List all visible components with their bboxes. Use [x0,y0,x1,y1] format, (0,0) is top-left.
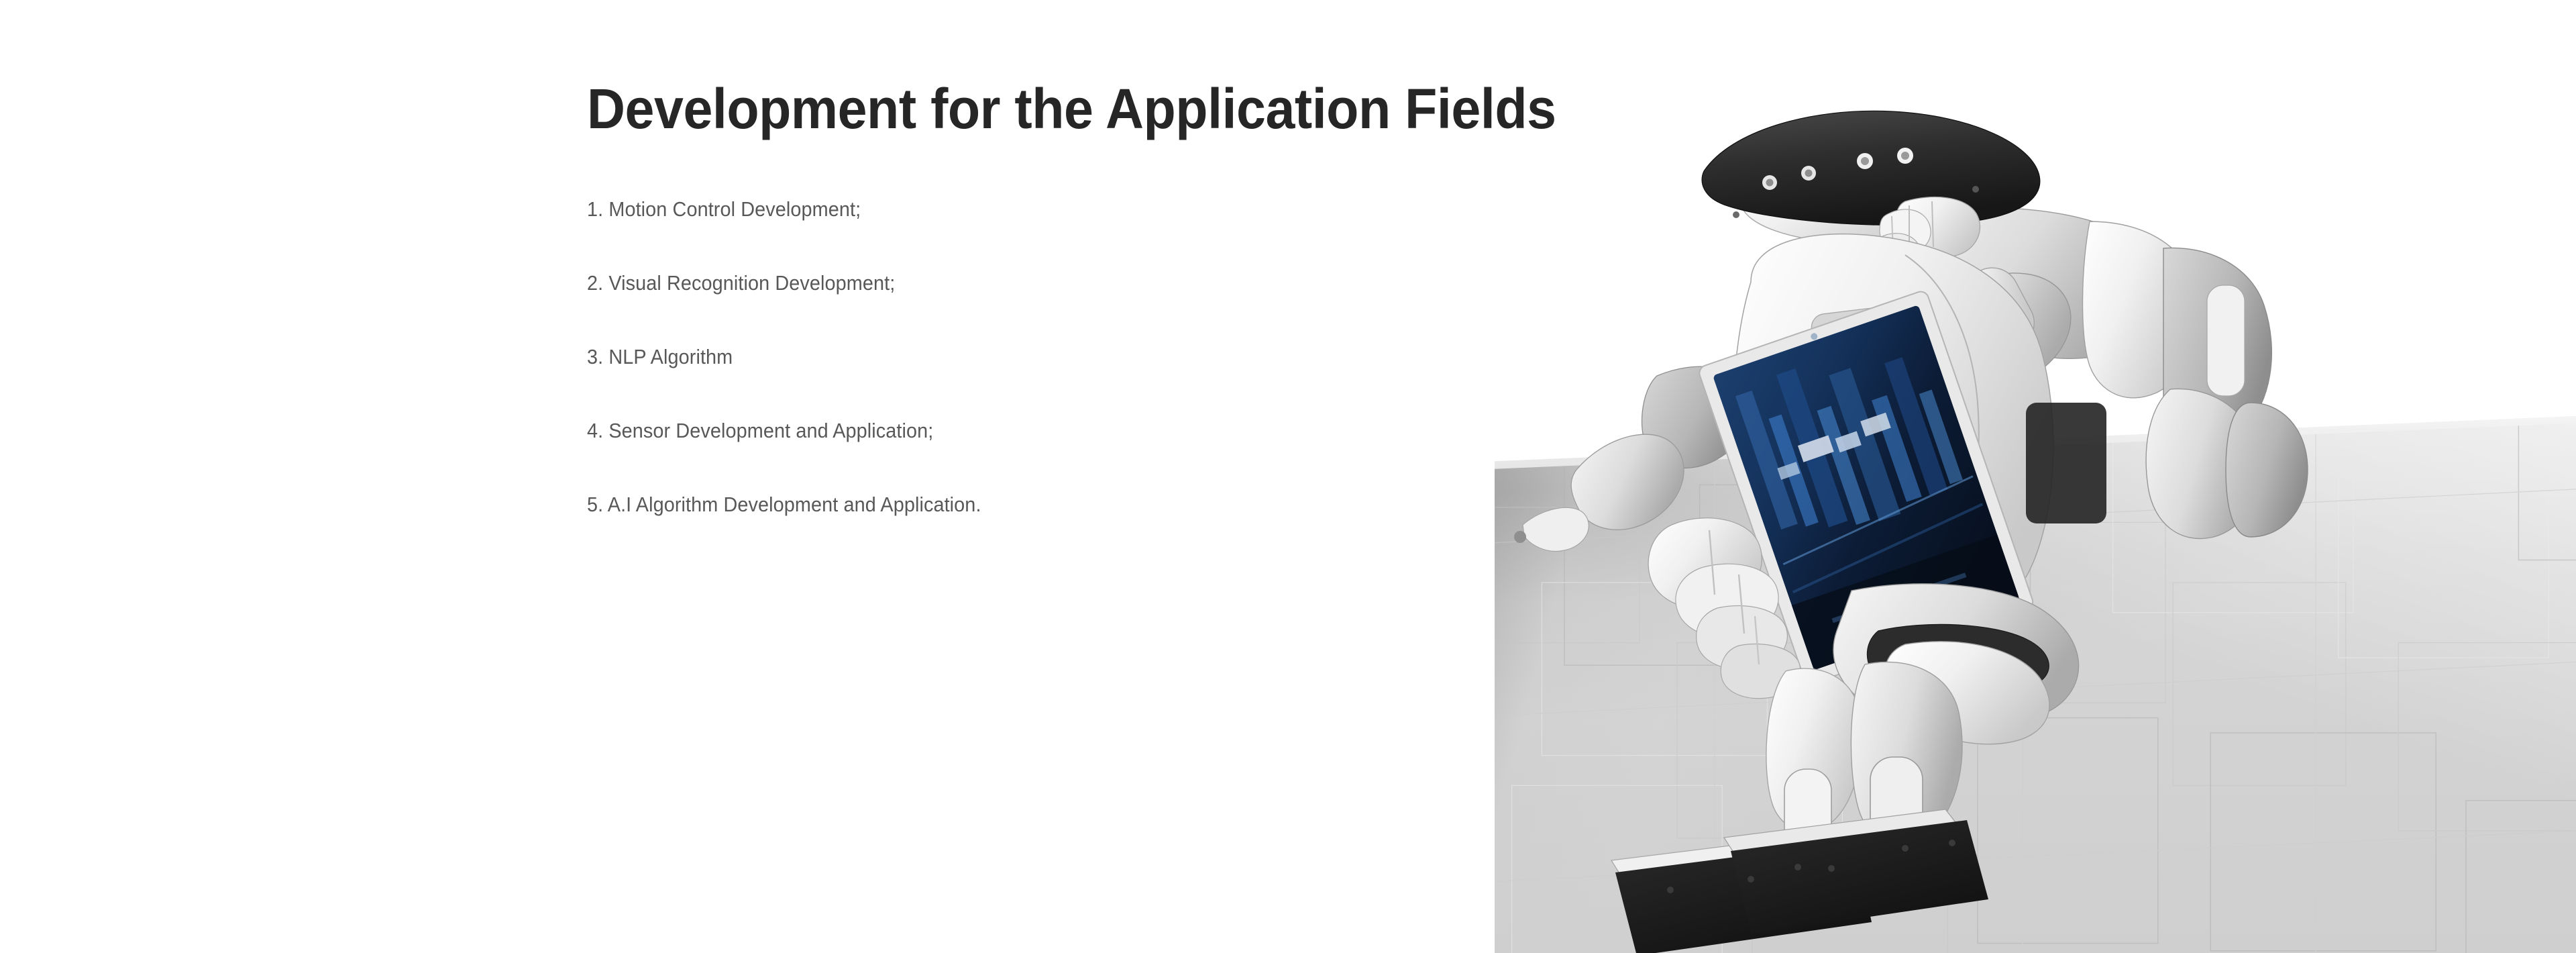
page-title: Development for the Application Fields [587,81,1659,137]
list-item: 5. A.I Algorithm Development and Applica… [587,494,1648,568]
list-item: 4. Sensor Development and Application; [587,420,1648,494]
robot-visor-band [1702,111,2040,225]
application-fields-list: 1. Motion Control Development; 2. Visual… [587,199,1727,568]
text-content-column: Development for the Application Fields 1… [587,81,1727,568]
list-item: 3. NLP Algorithm [587,346,1648,420]
list-item: 1. Motion Control Development; [587,199,1648,272]
list-item: 2. Visual Recognition Development; [587,272,1648,346]
slide-canvas: Development for the Application Fields 1… [0,0,2576,953]
robot-feet [1611,809,1988,953]
